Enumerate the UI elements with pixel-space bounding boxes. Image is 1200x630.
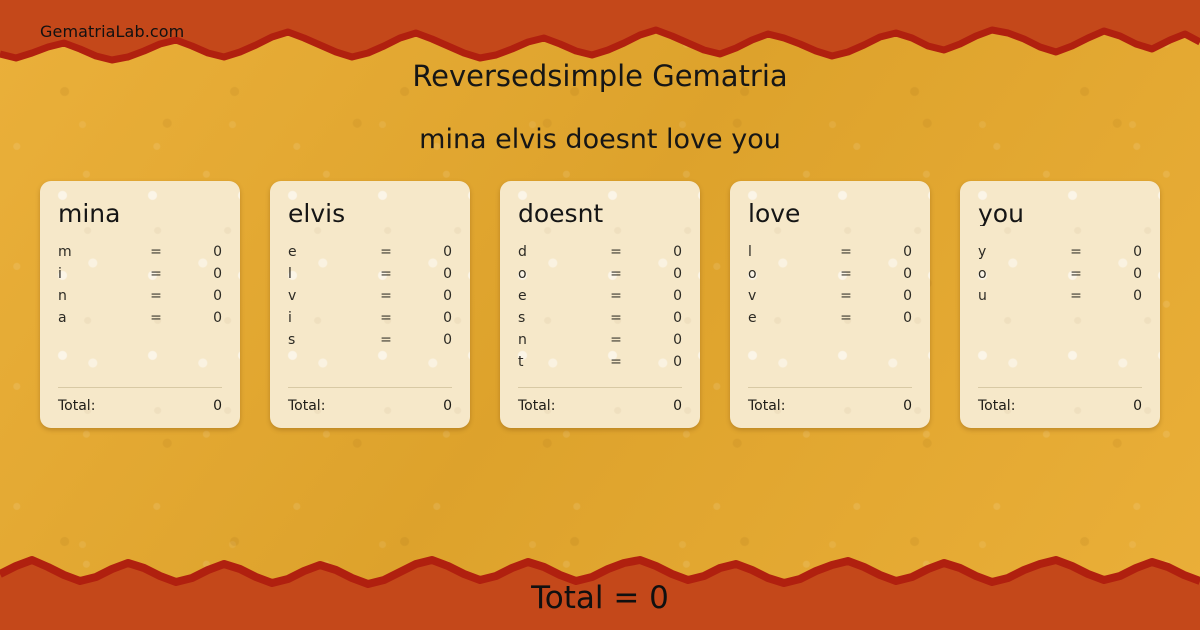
card-total-value: 0 [443, 398, 452, 414]
letter-char: e [288, 244, 366, 260]
equals-sign: = [1056, 266, 1096, 282]
card-divider [288, 387, 452, 388]
letter-char: l [748, 244, 826, 260]
letter-row: n = 0 [58, 288, 222, 310]
letter-row: v = 0 [748, 288, 912, 310]
letter-value: 0 [1096, 244, 1142, 260]
letter-row: u = 0 [978, 288, 1142, 310]
letter-value: 0 [636, 244, 682, 260]
letter-char: e [518, 288, 596, 304]
equals-sign: = [826, 310, 866, 326]
word-cards-row: mina m = 0 i = 0 n = 0 a [40, 181, 1160, 428]
equals-sign: = [596, 288, 636, 304]
letter-char: d [518, 244, 596, 260]
letter-char: o [978, 266, 1056, 282]
letter-value: 0 [406, 310, 452, 326]
card-total-row: Total: 0 [288, 398, 452, 414]
equals-sign: = [366, 332, 406, 348]
letter-value: 0 [636, 266, 682, 282]
letter-value: 0 [1096, 288, 1142, 304]
page-subtitle: mina elvis doesnt love you [0, 124, 1200, 155]
card-total-value: 0 [673, 398, 682, 414]
letter-value-list: l = 0 o = 0 v = 0 e = 0 [748, 244, 912, 387]
equals-sign: = [826, 266, 866, 282]
card-word-title: you [978, 201, 1142, 226]
letter-row: y = 0 [978, 244, 1142, 266]
letter-value: 0 [406, 244, 452, 260]
header-band: GematriaLab.com [0, 0, 1200, 68]
letter-char: n [58, 288, 136, 304]
equals-sign: = [596, 332, 636, 348]
equals-sign: = [826, 244, 866, 260]
word-card[interactable]: you y = 0 o = 0 u = 0 [960, 181, 1160, 428]
equals-sign: = [366, 266, 406, 282]
letter-value: 0 [866, 244, 912, 260]
card-word-title: doesnt [518, 201, 682, 226]
letter-value: 0 [176, 244, 222, 260]
word-card[interactable]: love l = 0 o = 0 v = 0 e [730, 181, 930, 428]
card-total-label: Total: [978, 398, 1133, 414]
equals-sign: = [596, 354, 636, 370]
equals-sign: = [596, 310, 636, 326]
grand-total: Total = 0 [0, 580, 1200, 616]
card-word-title: love [748, 201, 912, 226]
letter-char: i [288, 310, 366, 326]
card-total-value: 0 [903, 398, 912, 414]
letter-row: o = 0 [978, 266, 1142, 288]
word-card[interactable]: mina m = 0 i = 0 n = 0 a [40, 181, 240, 428]
letter-value: 0 [866, 310, 912, 326]
letter-value: 0 [866, 288, 912, 304]
letter-value: 0 [636, 354, 682, 370]
letter-char: t [518, 354, 596, 370]
site-logo[interactable]: GematriaLab.com [40, 22, 184, 41]
letter-row: l = 0 [288, 266, 452, 288]
letter-row: m = 0 [58, 244, 222, 266]
letter-row: s = 0 [288, 332, 452, 354]
letter-char: e [748, 310, 826, 326]
letter-value: 0 [866, 266, 912, 282]
letter-value: 0 [176, 288, 222, 304]
card-total-label: Total: [748, 398, 903, 414]
letter-row: l = 0 [748, 244, 912, 266]
equals-sign: = [826, 288, 866, 304]
page-canvas: GematriaLab.com Reversedsimple Gematria … [0, 0, 1200, 630]
card-divider [518, 387, 682, 388]
letter-row: o = 0 [518, 266, 682, 288]
equals-sign: = [136, 288, 176, 304]
card-total-label: Total: [58, 398, 213, 414]
equals-sign: = [366, 288, 406, 304]
letter-value: 0 [406, 266, 452, 282]
letter-char: i [58, 266, 136, 282]
letter-row: v = 0 [288, 288, 452, 310]
letter-row: e = 0 [518, 288, 682, 310]
letter-char: y [978, 244, 1056, 260]
word-card[interactable]: elvis e = 0 l = 0 v = 0 i [270, 181, 470, 428]
letter-row: i = 0 [58, 266, 222, 288]
letter-value-list: e = 0 l = 0 v = 0 i = 0 [288, 244, 452, 387]
letter-row: n = 0 [518, 332, 682, 354]
card-divider [748, 387, 912, 388]
page-title: Reversedsimple Gematria [0, 59, 1200, 93]
card-total-row: Total: 0 [748, 398, 912, 414]
equals-sign: = [596, 266, 636, 282]
letter-char: m [58, 244, 136, 260]
letter-value: 0 [406, 332, 452, 348]
letter-value: 0 [636, 310, 682, 326]
letter-char: n [518, 332, 596, 348]
letter-char: o [748, 266, 826, 282]
equals-sign: = [136, 244, 176, 260]
letter-row: o = 0 [748, 266, 912, 288]
letter-char: v [748, 288, 826, 304]
equals-sign: = [1056, 288, 1096, 304]
letter-value: 0 [406, 288, 452, 304]
letter-value: 0 [636, 288, 682, 304]
letter-char: v [288, 288, 366, 304]
letter-row: a = 0 [58, 310, 222, 332]
letter-value-list: y = 0 o = 0 u = 0 [978, 244, 1142, 387]
letter-char: s [288, 332, 366, 348]
equals-sign: = [136, 266, 176, 282]
card-total-row: Total: 0 [978, 398, 1142, 414]
equals-sign: = [366, 244, 406, 260]
letter-row: e = 0 [288, 244, 452, 266]
letter-row: t = 0 [518, 354, 682, 376]
card-total-label: Total: [518, 398, 673, 414]
equals-sign: = [366, 310, 406, 326]
card-total-value: 0 [1133, 398, 1142, 414]
letter-char: l [288, 266, 366, 282]
letter-row: d = 0 [518, 244, 682, 266]
letter-value: 0 [176, 266, 222, 282]
word-card[interactable]: doesnt d = 0 o = 0 e = 0 s [500, 181, 700, 428]
letter-value: 0 [1096, 266, 1142, 282]
letter-row: s = 0 [518, 310, 682, 332]
card-total-label: Total: [288, 398, 443, 414]
letter-value-list: d = 0 o = 0 e = 0 s = 0 [518, 244, 682, 387]
letter-char: s [518, 310, 596, 326]
letter-char: u [978, 288, 1056, 304]
letter-value-list: m = 0 i = 0 n = 0 a = 0 [58, 244, 222, 387]
letter-char: a [58, 310, 136, 326]
card-divider [978, 387, 1142, 388]
card-divider [58, 387, 222, 388]
card-total-row: Total: 0 [58, 398, 222, 414]
card-word-title: mina [58, 201, 222, 226]
letter-row: e = 0 [748, 310, 912, 332]
equals-sign: = [1056, 244, 1096, 260]
letter-char: o [518, 266, 596, 282]
equals-sign: = [596, 244, 636, 260]
equals-sign: = [136, 310, 176, 326]
card-total-row: Total: 0 [518, 398, 682, 414]
card-word-title: elvis [288, 201, 452, 226]
card-total-value: 0 [213, 398, 222, 414]
letter-value: 0 [176, 310, 222, 326]
letter-value: 0 [636, 332, 682, 348]
letter-row: i = 0 [288, 310, 452, 332]
